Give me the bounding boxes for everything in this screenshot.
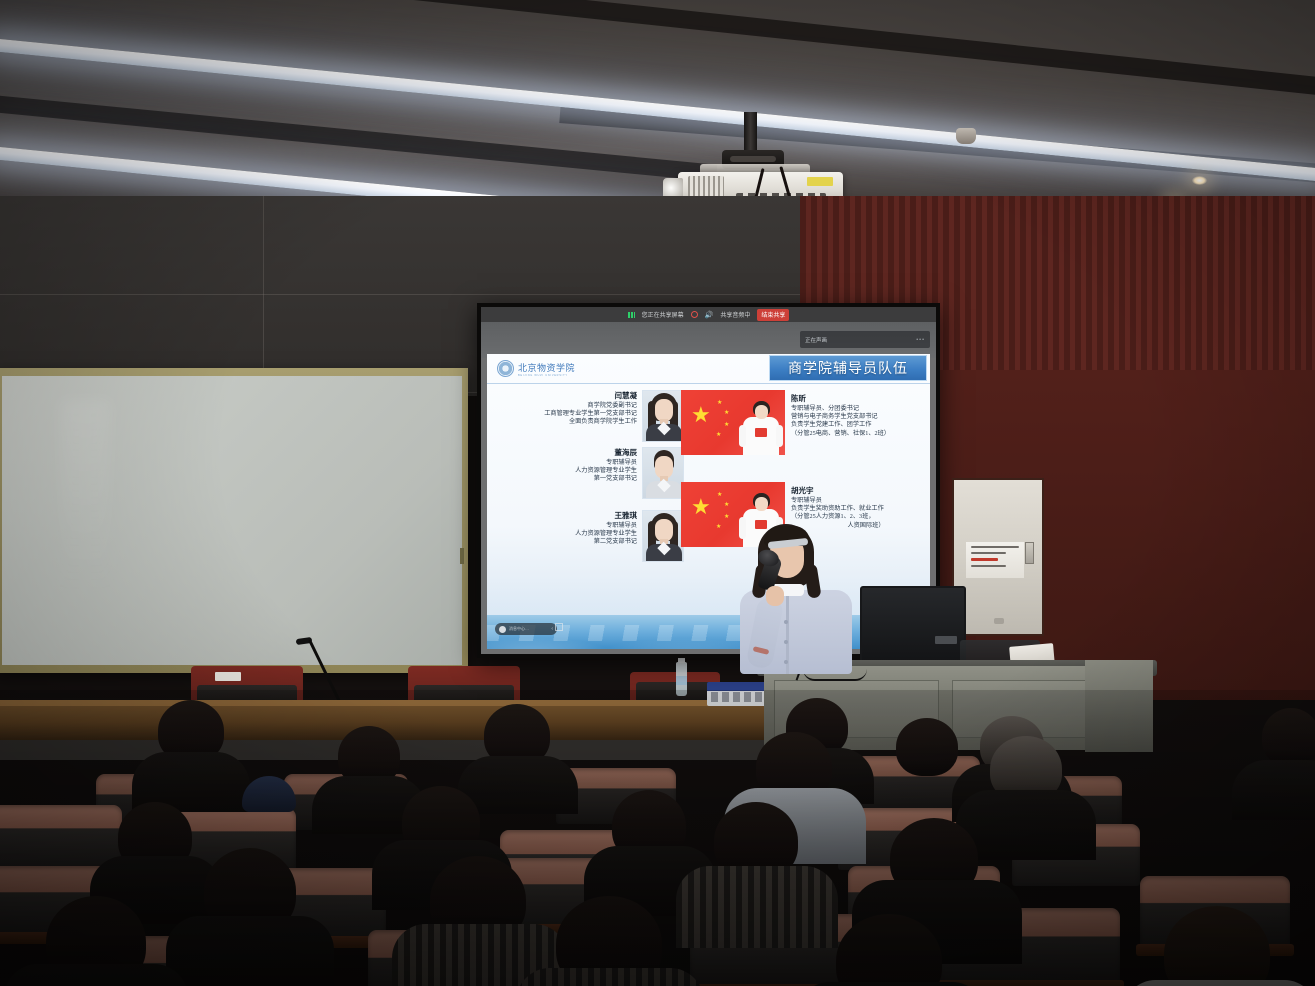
cabinet-lock-icon — [994, 618, 1004, 624]
projector-pole — [744, 112, 757, 154]
person-detail: 负责学生党建工作、团学工作 — [791, 421, 930, 429]
ceiling — [0, 0, 1315, 215]
slide-title: 商学院辅导员队伍 — [769, 355, 927, 381]
stop-share-button[interactable]: 结束共享 — [757, 309, 789, 321]
flag-small-star-icon: ★ — [724, 410, 729, 416]
audience-shoulders — [796, 982, 986, 986]
zoom-sharing-toolbar[interactable]: 您正在共享屏幕 🔊 共享音频中 结束共享 — [481, 307, 936, 322]
person-detail: 专职辅导员、分团委书记 — [791, 405, 930, 413]
projector-label — [807, 177, 833, 186]
posted-notice — [966, 542, 1024, 578]
slide-header: 北京物资学院 BEIJING WUZI UNIVERSITY 商学院辅导员队伍 — [487, 354, 930, 384]
monitor-badge — [935, 636, 957, 644]
university-logo: 北京物资学院 BEIJING WUZI UNIVERSITY — [487, 360, 575, 377]
flag-big-star-icon: ★ — [691, 404, 711, 426]
flag-small-star-icon: ★ — [724, 502, 729, 508]
presenter — [726, 524, 866, 674]
person-portrait — [642, 510, 684, 562]
presenter-hand — [766, 586, 784, 606]
flag-small-star-icon: ★ — [724, 422, 729, 428]
person-name: 闫慧凝 — [497, 390, 637, 401]
audience-shoulders — [166, 916, 334, 986]
audience-shoulders — [676, 866, 838, 948]
flag-small-star-icon: ★ — [716, 432, 721, 438]
person-portrait — [642, 447, 684, 499]
university-name-en: BEIJING WUZI UNIVERSITY — [518, 374, 575, 377]
person-detail: 第二党支部书记 — [515, 538, 637, 546]
slide-person-entry: 陈昕 专职辅导员、分团委书记 营销与电子商务学生党支部书记 负责学生党建工作、团… — [791, 393, 930, 438]
flag-photo-card: ★ ★ ★ ★ ★ — [681, 390, 785, 455]
person-detail: （分管25人力资源1、2、3班， — [791, 513, 930, 521]
slide-overlay-label: 消息中心… — [509, 626, 529, 632]
flag-small-star-icon: ★ — [717, 492, 722, 498]
slide-overlay-square-button[interactable] — [555, 623, 563, 631]
chevron-left-icon[interactable]: ‹ — [551, 626, 553, 632]
flag-small-star-icon: ★ — [716, 524, 721, 530]
person-detail: 专职辅导员 — [515, 522, 637, 530]
flag-big-star-icon: ★ — [691, 496, 711, 518]
ceiling-projector — [672, 112, 852, 207]
sharing-status-label: 您正在共享屏幕 — [642, 310, 684, 319]
audience-shoulders — [516, 968, 704, 986]
flag-small-star-icon: ★ — [724, 514, 729, 520]
whiteboard-clip — [460, 548, 464, 564]
floating-status-label: 正在声画 — [805, 336, 827, 344]
smoke-detector — [956, 128, 976, 144]
whiteboard-glare — [60, 400, 110, 590]
chair-label — [215, 672, 241, 681]
university-name-cn: 北京物资学院 — [518, 361, 575, 374]
slide-overlay-pill[interactable]: 消息中心… ‹ — [495, 623, 557, 635]
slide-person-entry: 王雅琪 专职辅导员 人力资源管理专业学生 第二党支部书记 — [515, 510, 684, 562]
person-detail: 专职辅导员 — [515, 459, 637, 467]
slide-person-entry: 董海辰 专职辅导员 人力资源管理专业学生 第一党支部书记 — [515, 447, 684, 499]
university-seal-icon — [497, 360, 514, 377]
audience-head — [896, 718, 958, 776]
podium-monitor — [860, 586, 966, 664]
signal-bars-icon — [628, 312, 635, 318]
lecture-hall-photo: 您正在共享屏幕 🔊 共享音频中 结束共享 正在声画 ••• 北京物资学院 — [0, 0, 1315, 986]
audience-shoulders — [4, 964, 188, 986]
person-name: 董海辰 — [515, 447, 637, 458]
person-detail: 商学院党委副书记 — [497, 402, 637, 410]
audience-shoulders — [1232, 760, 1315, 820]
person-detail: （分管25电商、营销、社保1、2班） — [791, 430, 930, 438]
person-detail: 专职辅导员 — [791, 497, 930, 505]
audience-shoulders — [1122, 980, 1315, 986]
slide-person-entry: 闫慧凝 商学院党委副书记 工商管理专业学生第一党支部书记 全面负责商学院学生工作 — [497, 390, 684, 442]
person-name: 陈昕 — [791, 393, 930, 404]
cabinet-switch[interactable] — [1025, 542, 1034, 564]
audience-head — [1262, 708, 1315, 766]
ceiling-downlight — [1192, 176, 1207, 185]
audio-status-label: 共享音频中 — [720, 310, 750, 319]
auditorium-seat[interactable] — [0, 805, 122, 869]
floating-more-icon[interactable]: ••• — [916, 337, 925, 343]
person-name: 胡光宇 — [791, 485, 930, 496]
person-photo — [743, 399, 779, 455]
person-name: 王雅琪 — [515, 510, 637, 521]
speaker-icon: 🔊 — [705, 311, 714, 319]
seated-audience — [0, 690, 1315, 986]
record-dot-icon[interactable] — [691, 311, 698, 318]
person-detail: 全面负责商学院学生工作 — [497, 418, 637, 426]
person-portrait — [642, 390, 684, 442]
avatar-icon — [499, 626, 506, 633]
person-detail: 第一党支部书记 — [515, 475, 637, 483]
flag-small-star-icon: ★ — [717, 400, 722, 406]
floating-status-bar[interactable]: 正在声画 ••• — [800, 331, 930, 348]
